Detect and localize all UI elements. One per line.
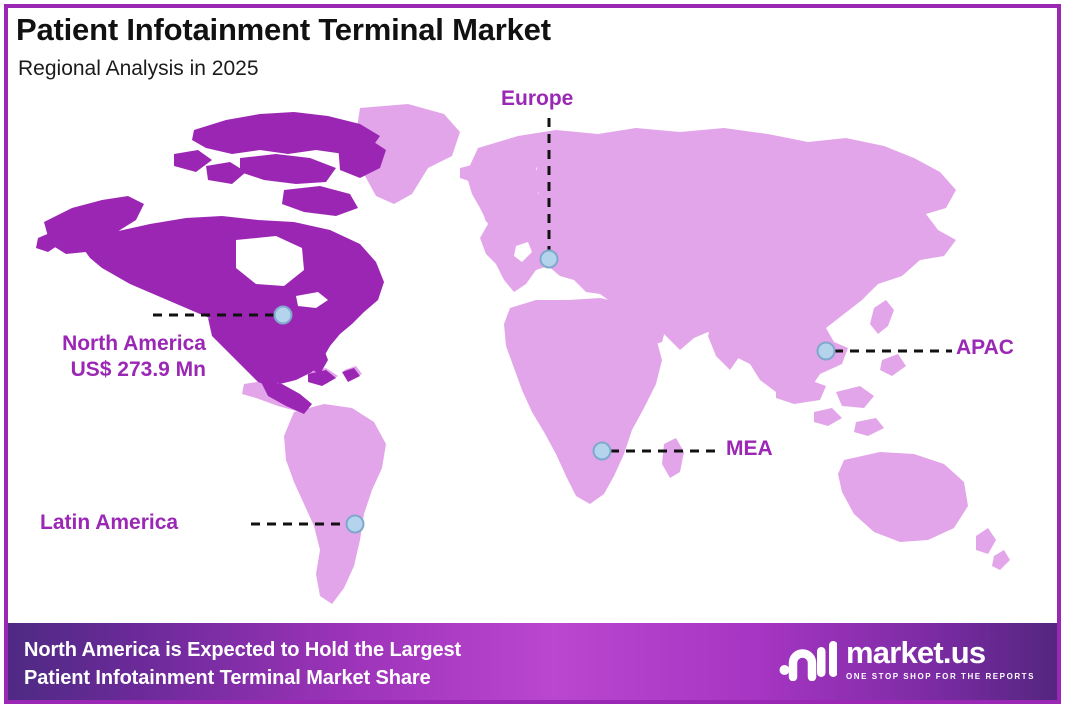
market-us-logo-mark-icon [779,637,837,681]
bottom-banner: North America is Expected to Hold the La… [8,623,1057,700]
banner-headline: North America is Expected to Hold the La… [24,636,461,693]
region-label-mea-text: MEA [726,437,773,460]
region-label-mea[interactable]: MEA [726,436,773,462]
infographic-root: Patient Infotainment Terminal Market Reg… [0,0,1065,708]
region-label-apac[interactable]: APAC [956,335,1014,361]
infographic-canvas: Patient Infotainment Terminal Market Reg… [8,8,1057,700]
region-label-europe-text: Europe [501,87,573,110]
header: Patient Infotainment Terminal Market Reg… [16,13,551,81]
logo-name: market.us [846,637,1035,668]
region-value-north-america: US$ 273.9 Mn [16,357,206,383]
region-label-apac-text: APAC [956,336,1014,359]
market-us-logo-words: market.us ONE STOP SHOP FOR THE REPORTS [846,637,1035,681]
map-other-regions [242,104,1010,604]
logo-tagline: ONE STOP SHOP FOR THE REPORTS [846,672,1035,681]
region-label-europe[interactable]: Europe [501,86,573,112]
region-label-latin-america[interactable]: Latin America [40,510,178,536]
region-label-latin-america-text: Latin America [40,511,178,534]
region-label-north-america[interactable]: North America US$ 273.9 Mn [16,331,206,382]
region-label-north-america-text: North America [62,332,206,355]
banner-headline-line2: Patient Infotainment Terminal Market Sha… [24,664,461,692]
banner-headline-line1: North America is Expected to Hold the La… [24,639,461,661]
page-title: Patient Infotainment Terminal Market [16,13,551,47]
market-us-logo[interactable]: market.us ONE STOP SHOP FOR THE REPORTS [779,637,1035,681]
page-subtitle: Regional Analysis in 2025 [18,56,551,81]
